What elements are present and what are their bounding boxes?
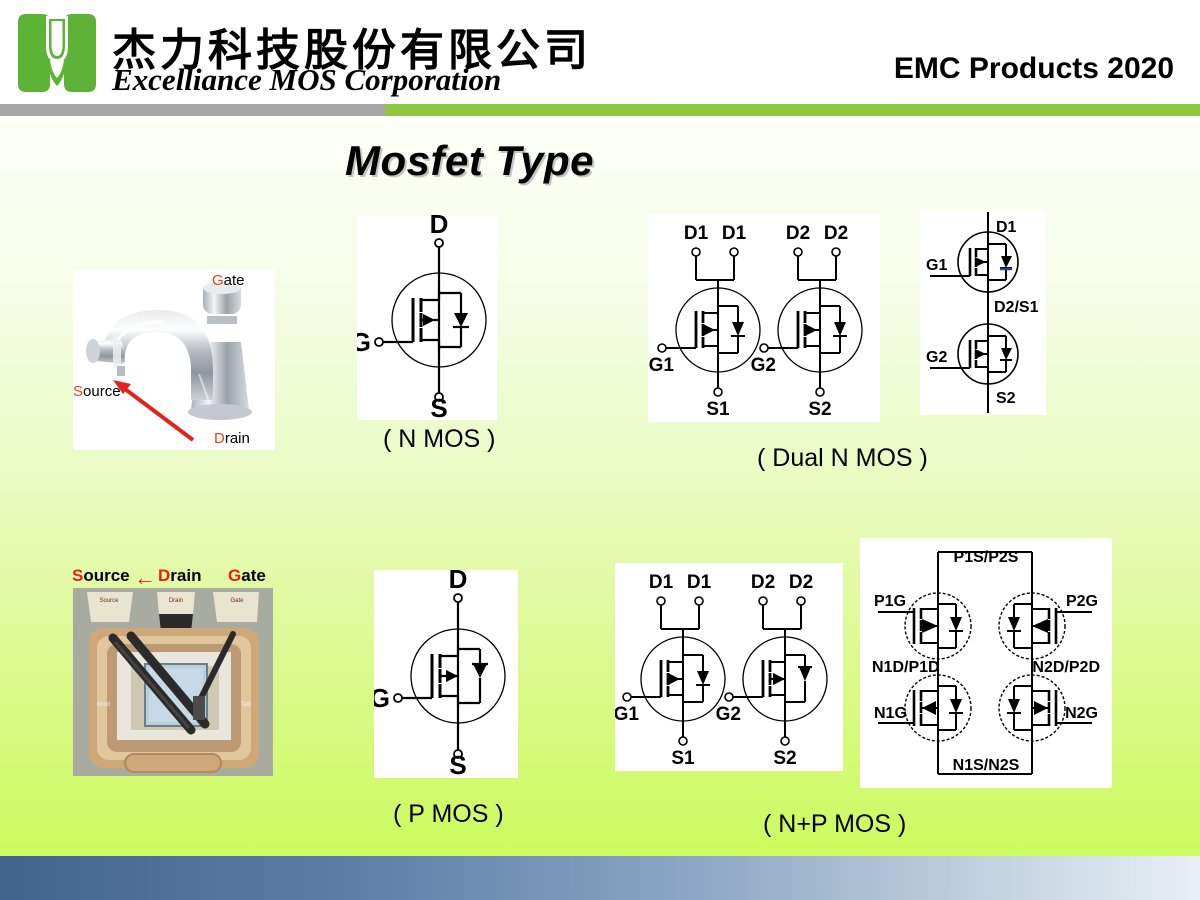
hbridge-panel: P1S/P2S P1G P2G N1D/P1D N2D/P2D N1G N2G …	[860, 538, 1112, 788]
dual-nmos-left-drain-a: D1	[684, 223, 709, 244]
caption-np-mos: ( N+P MOS )	[763, 810, 906, 839]
dual-nmos-right-gate: G2	[751, 355, 776, 376]
pmos-symbol-panel: D G S	[374, 570, 518, 778]
die-label-source: Source	[72, 566, 130, 586]
divider-grey-segment	[0, 104, 385, 116]
faucet-gate-rest: ate	[224, 272, 245, 289]
hbridge-mid-right: N2D/P2D	[1032, 659, 1100, 676]
nmos-symbol: D G S	[357, 215, 497, 420]
hbridge-p2g: P2G	[1066, 593, 1098, 610]
mosfet-die-photo: Source Drain Gate Mold Tab	[73, 588, 273, 776]
np-mos-panel: D1 D1 G1 S1 D2 D2 G2 S2	[615, 563, 843, 771]
faucet-label-gate: Gate	[212, 272, 245, 289]
hbridge-mid-left: N1D/P1D	[872, 659, 940, 676]
series-nmos-drain: D1	[996, 219, 1017, 236]
header-divider-bar	[0, 104, 1200, 116]
die-source-initial: S	[72, 566, 83, 585]
slide-footer	[0, 856, 1200, 900]
nmos-pin-source: S	[430, 393, 447, 420]
slide-root: 杰力科技股份有限公司 Excelliance MOS Corporation E…	[0, 0, 1200, 900]
die-drain-initial: D	[158, 566, 170, 585]
header-product-title: EMC Products 2020	[894, 52, 1174, 86]
die-source-rest: ource	[83, 566, 129, 585]
series-nmos-gate2: G2	[926, 349, 947, 366]
series-nmos-source: S2	[996, 390, 1016, 407]
die-drain-rest: rain	[170, 566, 201, 585]
np-mos-left-drain-b: D1	[687, 572, 712, 593]
slide-header: 杰力科技股份有限公司 Excelliance MOS Corporation E…	[0, 0, 1200, 104]
caption-nmos: ( N MOS )	[383, 425, 496, 454]
hbridge-n1g: N1G	[874, 705, 907, 722]
hbridge-symbol: P1S/P2S P1G P2G N1D/P1D N2D/P2D N1G N2G …	[860, 538, 1112, 788]
dual-nmos-left-drain-b: D1	[722, 223, 747, 244]
dual-nmos-panel: D1 D1 G1 S1 D2 D2 G2 S2	[648, 214, 880, 422]
page-title: Mosfet Type	[345, 137, 594, 185]
die-gate-rest: ate	[241, 566, 266, 585]
pmos-pin-drain: D	[449, 570, 468, 594]
np-mos-right-drain-a: D2	[751, 572, 775, 593]
die-arrow-icon: ←	[134, 567, 156, 589]
np-mos-right-gate: G2	[716, 704, 741, 725]
np-mos-right-drain-b: D2	[789, 572, 813, 593]
svg-text:Gate: Gate	[230, 598, 244, 604]
nmos-pin-drain: D	[430, 215, 449, 239]
faucet-label-drain: Drain	[214, 430, 250, 447]
faucet-label-source: Source	[73, 383, 121, 400]
hbridge-n2g: N2G	[1065, 705, 1098, 722]
dual-nmos-right-source: S2	[808, 399, 831, 420]
caption-dual-nmos: ( Dual N MOS )	[757, 444, 928, 473]
hbridge-p1g: P1G	[874, 593, 906, 610]
die-gate-initial: G	[228, 566, 241, 585]
pmos-pin-source: S	[449, 750, 466, 778]
series-nmos-symbol: D1 G1 D2/S1 G2 S2	[920, 210, 1046, 415]
die-label-drain: Drain	[158, 566, 201, 586]
svg-text:Tab: Tab	[241, 702, 251, 708]
series-nmos-mid: D2/S1	[994, 299, 1039, 316]
np-mos-right-source: S2	[773, 748, 796, 769]
hbridge-top-label: P1S/P2S	[954, 549, 1019, 566]
nmos-symbol-panel: D G S	[357, 215, 497, 420]
faucet-source-initial: S	[73, 383, 83, 400]
dual-nmos-left-gate: G1	[649, 355, 675, 376]
faucet-drain-rest: rain	[225, 430, 250, 447]
company-name-english: Excelliance MOS Corporation	[112, 62, 501, 98]
faucet-source-rest: ource	[83, 383, 121, 400]
series-nmos-gate1: G1	[926, 257, 947, 274]
faucet-photo	[73, 270, 275, 450]
die-photo-panel: Source Drain Gate Mold Tab	[73, 588, 273, 776]
np-mos-left-source: S1	[671, 748, 695, 769]
pmos-symbol: D G S	[374, 570, 518, 778]
divider-green-segment	[385, 104, 1200, 116]
nmos-pin-gate: G	[357, 327, 371, 357]
dual-nmos-symbol: D1 D1 G1 S1 D2 D2 G2 S2	[648, 214, 880, 422]
np-mos-left-gate: G1	[615, 704, 639, 725]
emc-m-logo-icon	[14, 12, 100, 96]
hbridge-bottom-label: N1S/N2S	[953, 757, 1020, 774]
faucet-drain-initial: D	[214, 430, 225, 447]
pmos-pin-gate: G	[374, 683, 390, 713]
dual-nmos-left-source: S1	[706, 399, 730, 420]
svg-text:Drain: Drain	[169, 598, 183, 604]
faucet-photo-panel	[73, 270, 275, 450]
np-mos-symbol: D1 D1 G1 S1 D2 D2 G2 S2	[615, 563, 843, 771]
caption-pmos: ( P MOS )	[393, 800, 504, 829]
dual-nmos-right-drain-b: D2	[824, 223, 848, 244]
faucet-gate-initial: G	[212, 272, 224, 289]
np-mos-left-drain-a: D1	[649, 572, 674, 593]
dual-nmos-right-drain-a: D2	[786, 223, 810, 244]
die-label-gate: Gate	[228, 566, 266, 586]
svg-text:Mold: Mold	[97, 702, 110, 708]
svg-text:Source: Source	[99, 598, 119, 604]
series-nmos-panel: D1 G1 D2/S1 G2 S2	[920, 210, 1046, 415]
